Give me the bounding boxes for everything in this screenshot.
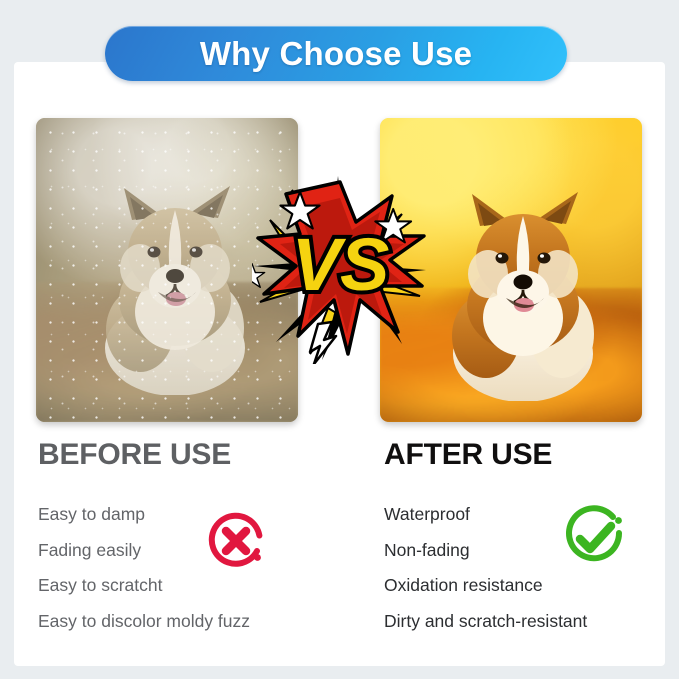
page-title: Why Choose Use	[200, 35, 472, 73]
before-feature-list: Easy to damp Fading easily Easy to scrat…	[38, 497, 338, 639]
vs-label: VS	[292, 223, 389, 306]
page-title-pill: Why Choose Use	[105, 26, 567, 81]
list-item: Easy to scratcht	[38, 568, 338, 604]
list-item: Dirty and scratch-resistant	[384, 604, 654, 640]
circle-cross-icon	[200, 505, 272, 577]
circle-check-icon	[556, 500, 632, 576]
vs-badge: VS	[252, 174, 428, 364]
after-photo-dog	[428, 186, 618, 401]
before-column: BEFORE USE Easy to damp Fading easily Ea…	[38, 437, 338, 639]
list-item: Easy to damp	[38, 497, 338, 533]
list-item: Easy to discolor moldy fuzz	[38, 604, 338, 640]
after-heading: AFTER USE	[384, 437, 654, 473]
list-item: Fading easily	[38, 533, 338, 569]
before-heading: BEFORE USE	[38, 437, 338, 473]
